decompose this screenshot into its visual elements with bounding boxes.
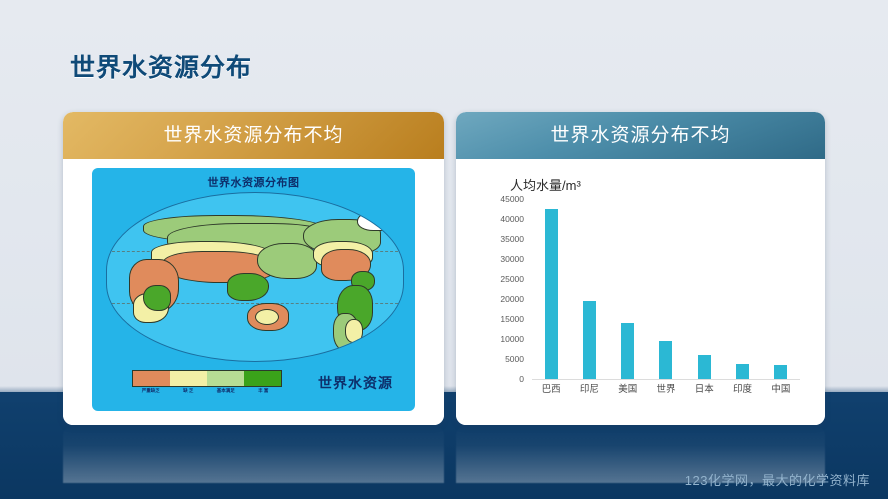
bar-column <box>728 199 758 379</box>
world-water-map: 世界水资源分布图 <box>92 168 415 411</box>
left-panel-body: 世界水资源分布图 <box>63 159 444 425</box>
chart-bar <box>621 323 634 379</box>
x-axis-label: 印度 <box>728 381 758 395</box>
y-axis-tick: 45000 <box>500 194 524 204</box>
x-axis-label: 美国 <box>613 381 643 395</box>
legend-swatch-basic <box>207 371 244 386</box>
y-axis-tick: 30000 <box>500 254 524 264</box>
chart-plot-area <box>532 199 800 380</box>
legend-label-2: 基本满足 <box>207 388 245 394</box>
right-panel-header: 世界水资源分布不均 <box>456 112 825 159</box>
page-title: 世界水资源分布 <box>70 48 252 84</box>
chart-y-axis: 4500040000350003000025000200001500010000… <box>476 199 528 379</box>
x-axis-label: 印尼 <box>574 381 604 395</box>
chart-bar <box>736 364 749 379</box>
legend-label-3: 丰 富 <box>245 388 283 394</box>
legend-labels: 严重缺乏 缺 乏 基本满足 丰 富 <box>132 388 282 394</box>
globe-graphic <box>106 192 404 362</box>
bar-column <box>689 199 719 379</box>
y-axis-tick: 20000 <box>500 294 524 304</box>
chart-bar <box>583 301 596 379</box>
y-axis-tick: 40000 <box>500 214 524 224</box>
chart-bar <box>659 341 672 379</box>
map-title: 世界水资源分布图 <box>92 174 415 190</box>
chart-bar <box>774 365 787 379</box>
legend-label-0: 严重缺乏 <box>132 388 170 394</box>
x-axis-label: 日本 <box>689 381 719 395</box>
left-panel-card: 世界水资源分布不均 世界水资源分布图 <box>63 112 444 425</box>
legend-swatch-severe <box>133 371 170 386</box>
slide: 世界水资源分布 世界水资源分布不均 世界水资源分布图 <box>0 0 888 499</box>
left-panel-header: 世界水资源分布不均 <box>63 112 444 159</box>
right-panel-card: 世界水资源分布不均 人均水量/m³ 4500040000350003000025… <box>456 112 825 425</box>
map-legend: 严重缺乏 缺 乏 基本满足 丰 富 <box>132 370 282 394</box>
legend-color-bar <box>132 370 282 387</box>
chart-title: 人均水量/m³ <box>510 175 581 194</box>
y-axis-tick: 35000 <box>500 234 524 244</box>
chart-bar <box>698 355 711 379</box>
chart-bar <box>545 209 558 379</box>
x-axis-label: 中国 <box>766 381 796 395</box>
legend-swatch-short <box>170 371 207 386</box>
bar-column <box>536 199 566 379</box>
legend-swatch-rich <box>244 371 281 386</box>
right-panel-body: 人均水量/m³ 45000400003500030000250002000015… <box>456 159 825 425</box>
bar-chart: 4500040000350003000025000200001500010000… <box>476 199 806 404</box>
y-axis-tick: 25000 <box>500 274 524 284</box>
y-axis-tick: 10000 <box>500 334 524 344</box>
bar-column <box>613 199 643 379</box>
x-axis-label: 巴西 <box>536 381 566 395</box>
bar-column <box>574 199 604 379</box>
bar-column <box>766 199 796 379</box>
y-axis-tick: 5000 <box>505 354 524 364</box>
legend-label-1: 缺 乏 <box>170 388 208 394</box>
y-axis-tick: 15000 <box>500 314 524 324</box>
watermark: 123化学网，最大的化学资料库 <box>685 470 870 489</box>
map-caption: 世界水资源 <box>318 373 393 393</box>
bar-column <box>651 199 681 379</box>
x-axis-label: 世界 <box>651 381 681 395</box>
y-axis-tick: 0 <box>519 374 524 384</box>
chart-x-axis: 巴西印尼美国世界日本印度中国 <box>532 381 800 395</box>
